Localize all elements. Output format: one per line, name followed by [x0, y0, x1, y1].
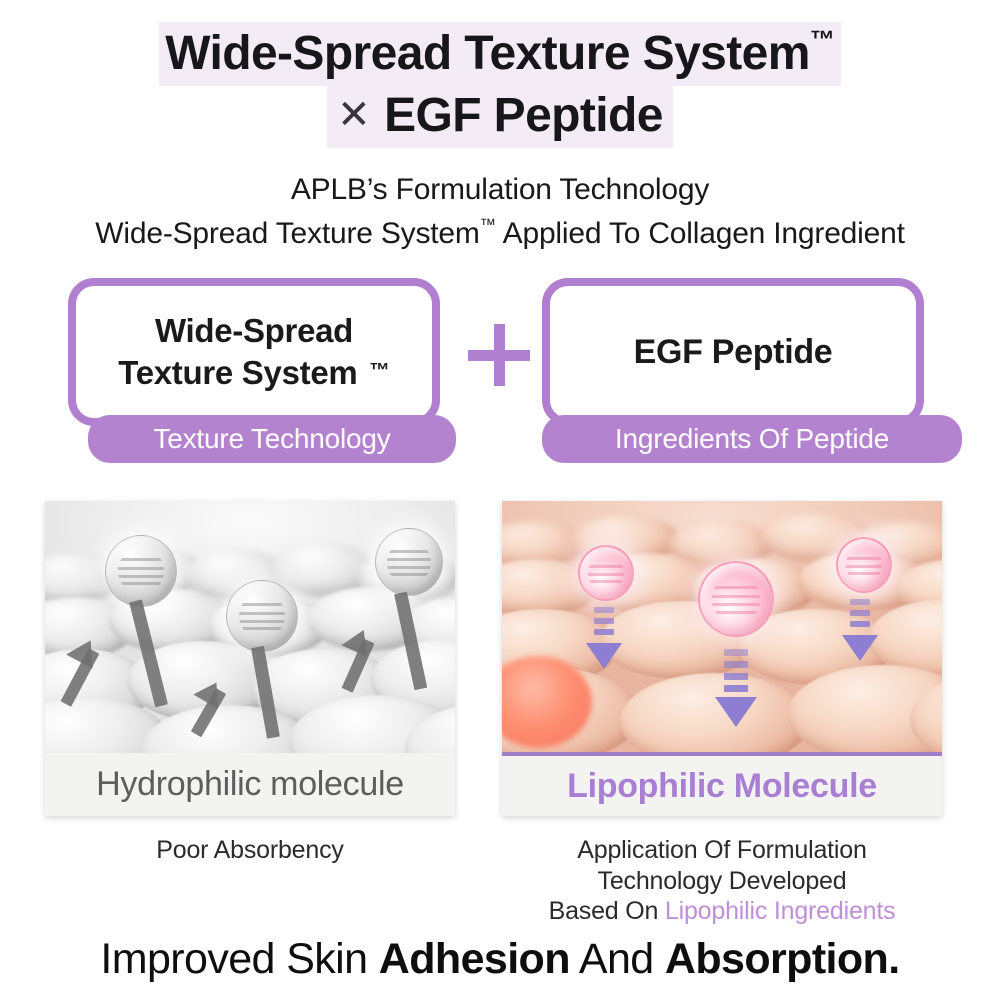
- droplet-lipophilic-1: [578, 545, 634, 601]
- concept-box-right: EGF Peptide: [542, 278, 924, 426]
- subtitle-block: APLB’s Formulation Technology Wide-Sprea…: [0, 168, 1000, 256]
- note-hydrophilic: Poor Absorbency: [45, 835, 455, 866]
- cross-symbol-icon: ✕: [337, 93, 384, 137]
- title-line-1: Wide-Spread Texture System™: [0, 22, 1000, 86]
- droplet-texture-icon: [387, 541, 431, 585]
- bottom-headline: Improved Skin Adhesion And Absorption.: [0, 935, 1000, 984]
- droplet-hydrophilic-2: [226, 580, 298, 652]
- pill-texture-technology: Texture Technology: [88, 415, 456, 463]
- panel-lipophilic-artwork: [502, 501, 942, 756]
- title-line-2-wrap: ✕EGF Peptide: [327, 86, 673, 148]
- panel-lipophilic: Lipophilic Molecule: [502, 501, 942, 816]
- concept-box-left-title: Wide-Spread Texture System ™: [118, 310, 389, 394]
- concept-left-title-line-1: Wide-Spread: [155, 312, 353, 349]
- pill-texture-technology-label: Texture Technology: [153, 423, 390, 455]
- subtitle-line-2: Wide-Spread Texture System™ Applied To C…: [0, 212, 1000, 256]
- droplet-lipophilic-3: [836, 537, 892, 593]
- panel-hydrophilic: Hydrophilic molecule: [45, 501, 455, 816]
- headline-part-4: Absorption.: [665, 935, 900, 983]
- droplet-texture-icon: [588, 555, 624, 591]
- panel-hydrophilic-caption-band: Hydrophilic molecule: [45, 753, 455, 816]
- panel-hydrophilic-caption: Hydrophilic molecule: [96, 765, 404, 804]
- panel-lipophilic-caption: Lipophilic Molecule: [567, 767, 877, 806]
- headline-part-3: And: [570, 935, 665, 983]
- note-lipophilic-line-3-highlight: Lipophilic Ingredients: [665, 897, 895, 925]
- concept-box-right-title: EGF Peptide: [634, 331, 833, 374]
- title-line-2-text: EGF Peptide: [384, 89, 663, 142]
- concept-box-row: Wide-Spread Texture System ™ Texture Tec…: [0, 278, 1000, 473]
- headline-part-1: Improved Skin: [100, 935, 378, 983]
- panel-hydrophilic-artwork: [45, 501, 455, 753]
- droplet-hydrophilic-3: [375, 528, 443, 596]
- droplet-texture-icon: [846, 547, 882, 583]
- title-block: Wide-Spread Texture System™ ✕EGF Peptide: [0, 0, 1000, 148]
- note-lipophilic-line-2: Technology Developed: [598, 867, 847, 895]
- concept-box-left: Wide-Spread Texture System ™: [68, 278, 440, 426]
- concept-left-title-line-2: Texture System ™: [118, 354, 389, 391]
- note-lipophilic-line-1: Application Of Formulation: [577, 836, 866, 864]
- panel-lipophilic-caption-band: Lipophilic Molecule: [502, 752, 942, 816]
- title-line-1-text: Wide-Spread Texture System™: [159, 22, 841, 86]
- pill-ingredients-of-peptide: Ingredients Of Peptide: [542, 415, 962, 463]
- illustration-panels: Hydrophilic molecule: [0, 501, 1000, 821]
- droplet-hydrophilic-1: [105, 535, 177, 607]
- pill-ingredients-of-peptide-label: Ingredients Of Peptide: [615, 423, 889, 455]
- droplet-lipophilic-2: [698, 561, 774, 637]
- plus-operator-icon: [468, 324, 530, 386]
- note-lipophilic: Application Of Formulation Technology De…: [502, 835, 942, 927]
- note-lipophilic-line-3-prefix: Based On: [549, 897, 665, 925]
- panel-notes: Poor Absorbency Application Of Formulati…: [0, 835, 1000, 945]
- title-line-2: ✕EGF Peptide: [0, 86, 1000, 148]
- subtitle-line-1: APLB’s Formulation Technology: [0, 168, 1000, 212]
- headline-part-2: Adhesion: [379, 935, 570, 983]
- droplet-texture-icon: [712, 575, 761, 624]
